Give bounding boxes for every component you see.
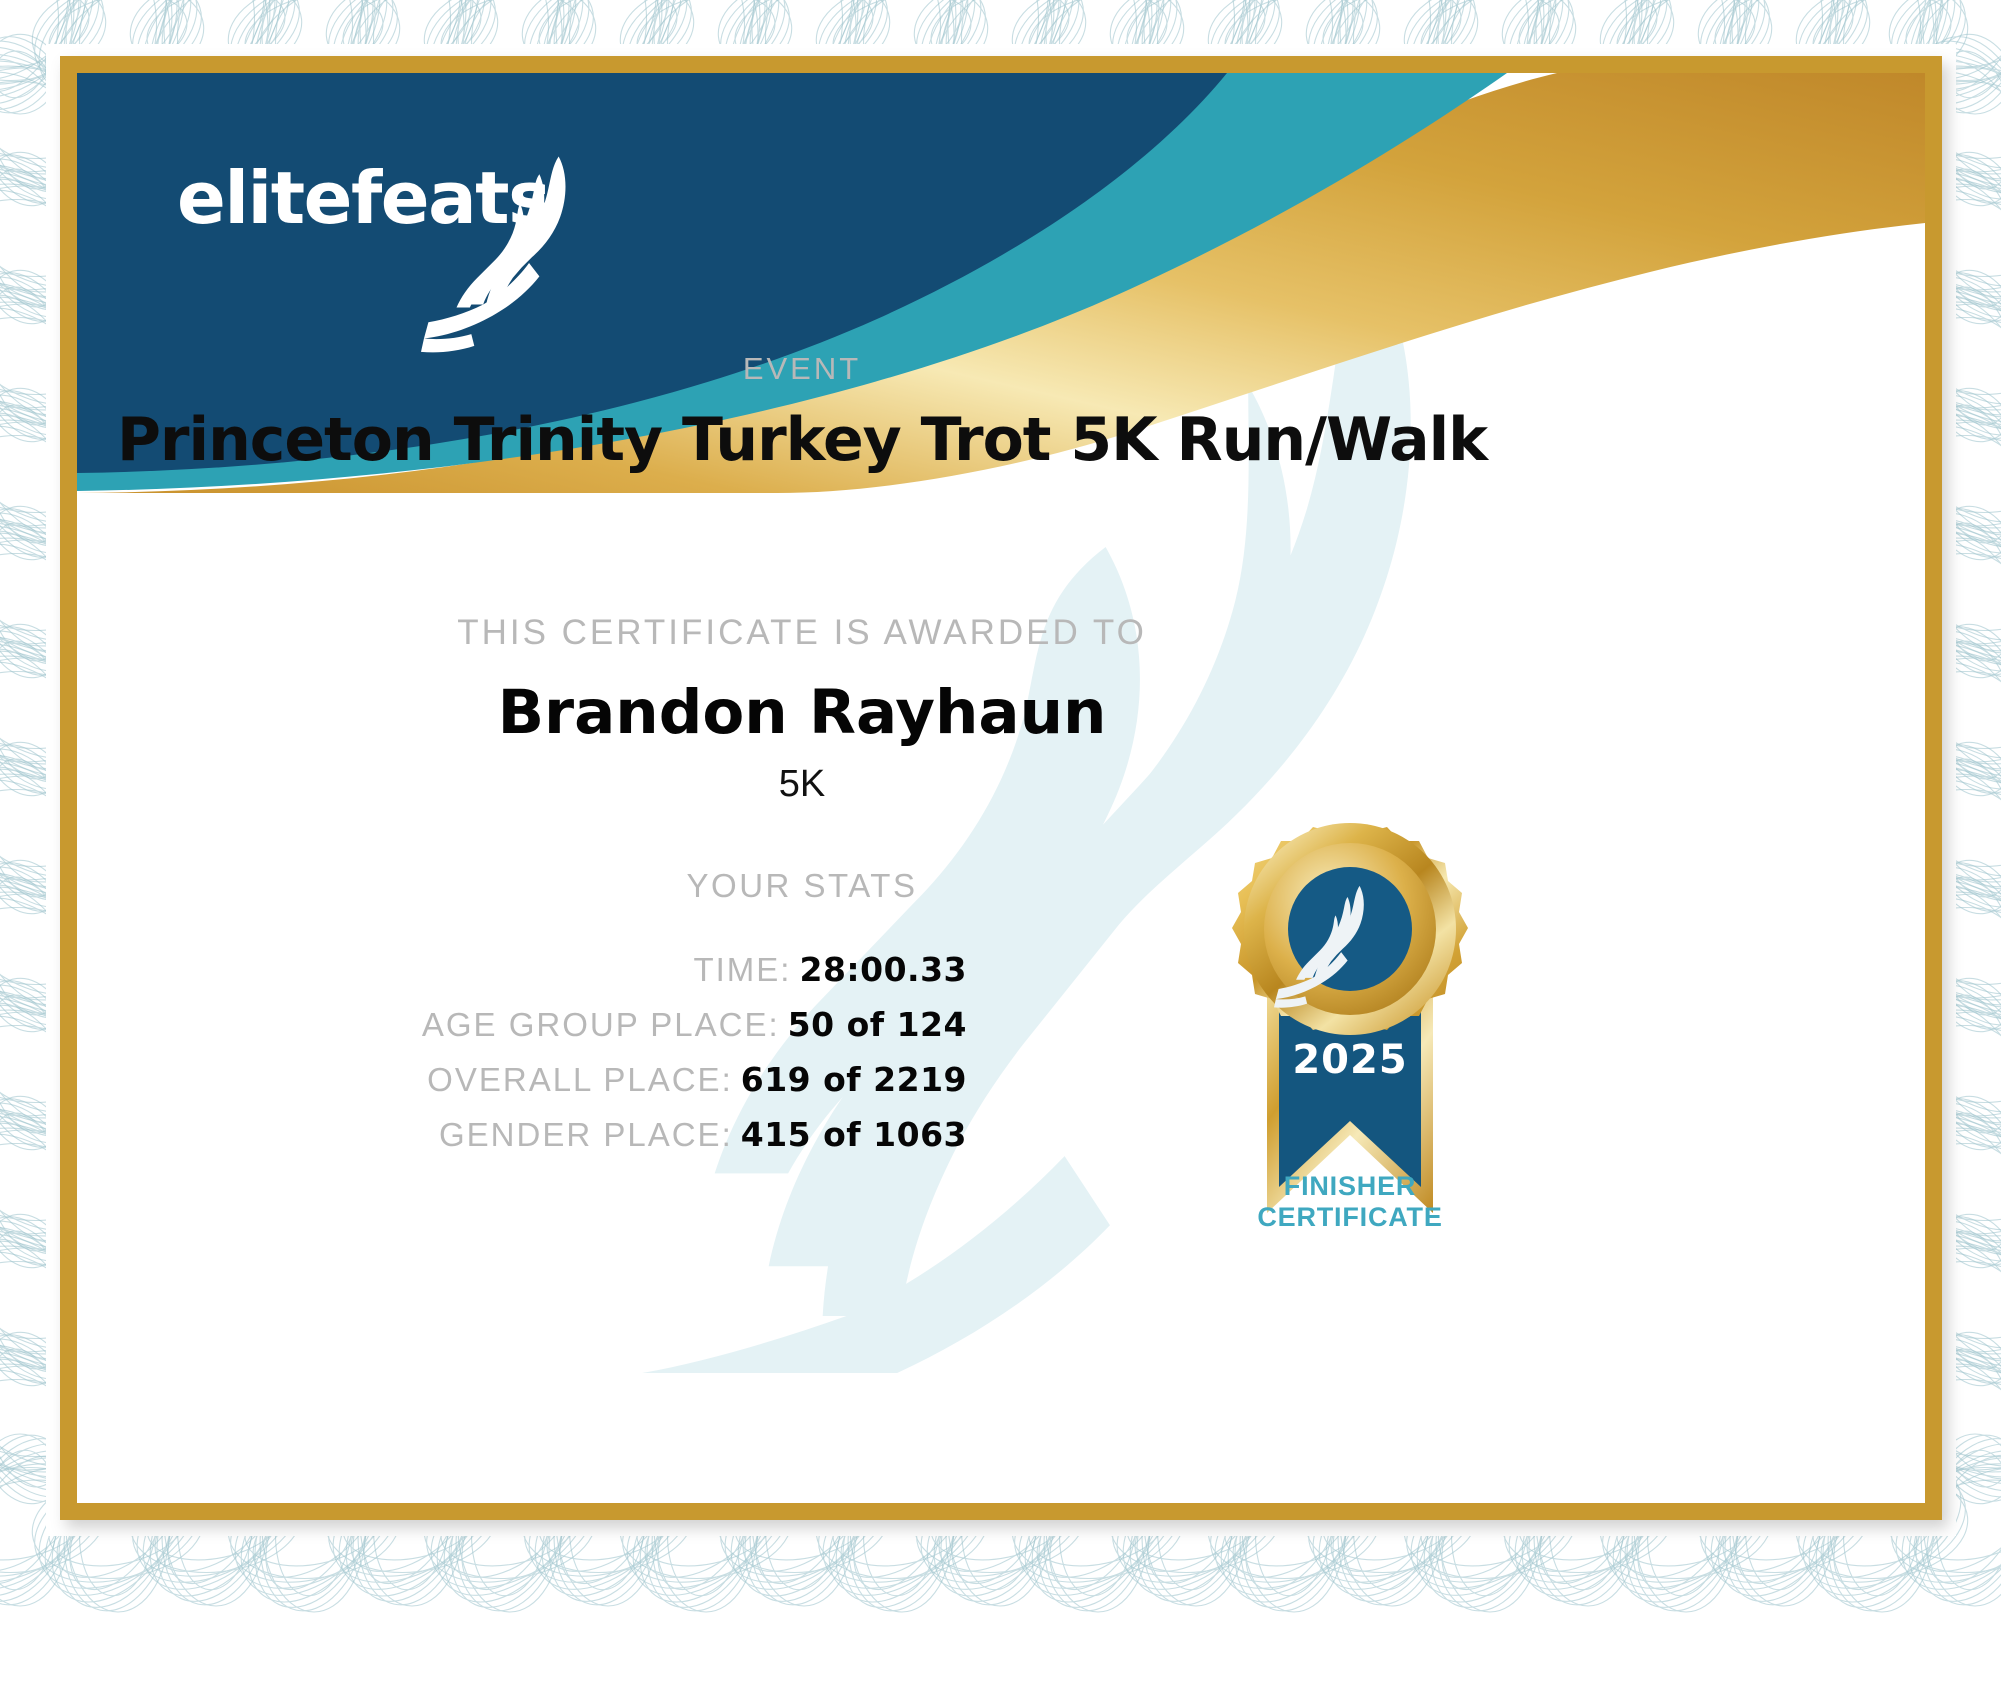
recipient-name: Brandon Rayhaun <box>77 677 1527 748</box>
stat-value-gender-place: 415 of 1063 <box>741 1115 967 1154</box>
event-label: EVENT <box>77 351 1527 387</box>
stat-label-time: TIME: <box>693 951 791 988</box>
stat-label-overall-place: OVERALL PLACE: <box>427 1061 733 1098</box>
certificate-content: EVENT Princeton Trinity Turkey Trot 5K R… <box>77 73 1925 1503</box>
event-title: Princeton Trinity Turkey Trot 5K Run/Wal… <box>77 405 1527 475</box>
certificate-gold-frame: elitefeats EVENT Princeton Trinity Turke… <box>60 56 1942 1520</box>
stat-value-time: 28:00.33 <box>799 950 967 989</box>
badge-caption: FINISHER CERTIFICATE <box>1195 1171 1505 1233</box>
certificate-page: elitefeats EVENT Princeton Trinity Turke… <box>0 0 2001 1700</box>
stat-label-gender-place: GENDER PLACE: <box>439 1116 733 1153</box>
stat-value-age-group-place: 50 of 124 <box>788 1005 967 1044</box>
certificate-body: elitefeats EVENT Princeton Trinity Turke… <box>77 73 1925 1503</box>
stat-value-overall-place: 619 of 2219 <box>741 1060 967 1099</box>
badge-caption-line2: CERTIFICATE <box>1195 1202 1505 1233</box>
badge-year: 2025 <box>1292 1037 1407 1083</box>
awarded-to-label: THIS CERTIFICATE IS AWARDED TO <box>77 613 1527 653</box>
badge-caption-line1: FINISHER <box>1195 1171 1505 1202</box>
race-distance: 5K <box>77 763 1527 806</box>
stat-label-age-group-place: AGE GROUP PLACE: <box>422 1006 780 1043</box>
